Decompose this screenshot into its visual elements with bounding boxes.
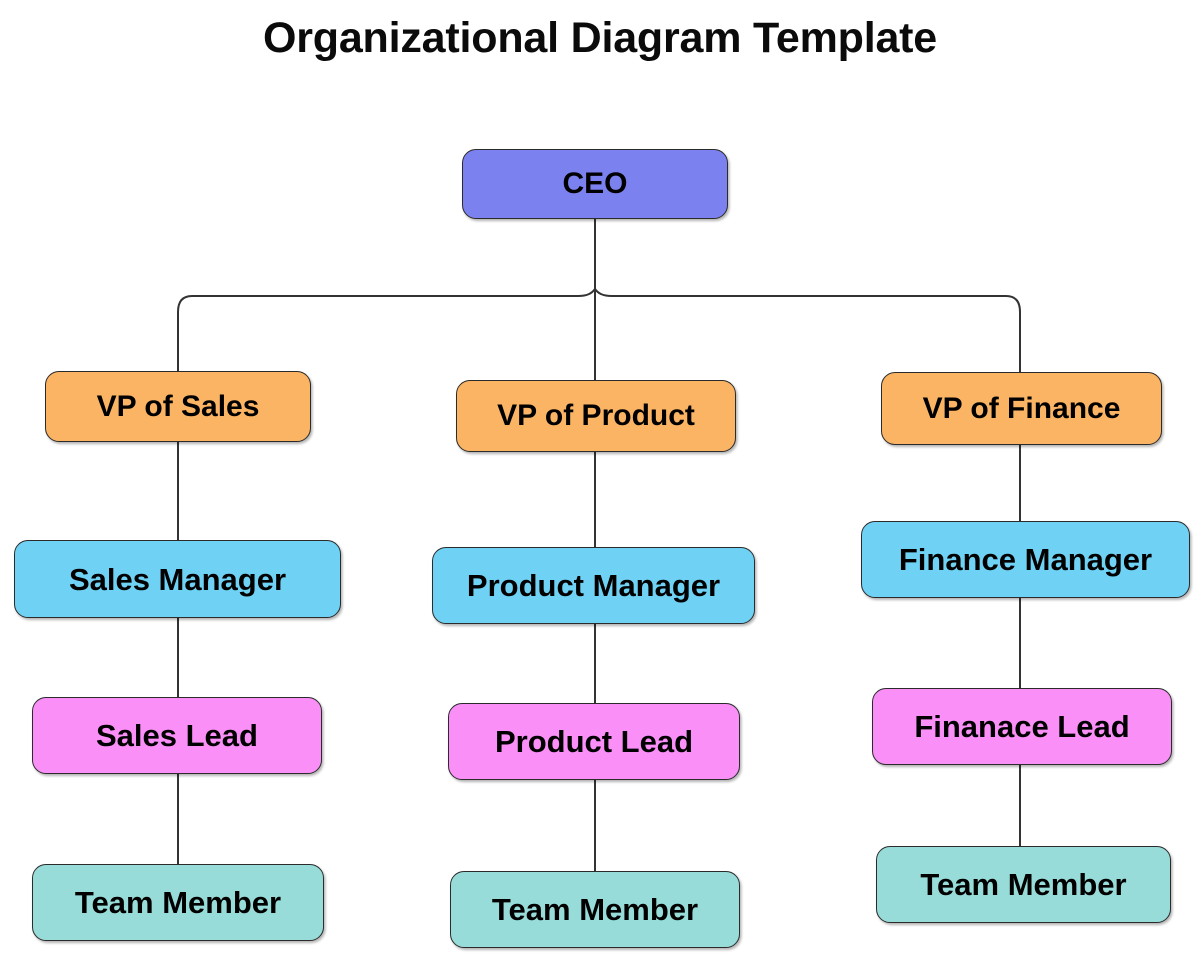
node-finance-lead-label: Finanace Lead [914,711,1129,742]
node-sales-lead[interactable]: Sales Lead [32,697,322,774]
node-sales-team-member-label: Team Member [75,887,281,918]
page-title: Organizational Diagram Template [0,14,1200,63]
node-sales-team-member[interactable]: Team Member [32,864,324,941]
node-sales-manager[interactable]: Sales Manager [14,540,341,618]
node-finance-manager-label: Finance Manager [899,544,1152,575]
node-vp-of-finance[interactable]: VP of Finance [881,372,1162,445]
node-sales-manager-label: Sales Manager [69,564,286,595]
edge-ceo-to-vp-finance [595,289,1020,372]
node-ceo-label: CEO [562,169,627,199]
node-product-manager-label: Product Manager [467,570,720,601]
node-product-team-member[interactable]: Team Member [450,871,740,948]
node-vp-of-product-label: VP of Product [497,401,695,431]
node-ceo[interactable]: CEO [462,149,728,219]
connector-layer [0,0,1200,966]
node-finance-team-member-label: Team Member [920,869,1126,900]
node-product-lead-label: Product Lead [495,726,693,757]
edge-ceo-to-vp-sales [178,289,595,371]
node-vp-of-product[interactable]: VP of Product [456,380,736,452]
node-product-manager[interactable]: Product Manager [432,547,755,624]
node-vp-of-sales[interactable]: VP of Sales [45,371,311,442]
node-product-lead[interactable]: Product Lead [448,703,740,780]
node-finance-lead[interactable]: Finanace Lead [872,688,1172,765]
node-vp-of-finance-label: VP of Finance [923,394,1121,424]
node-finance-manager[interactable]: Finance Manager [861,521,1190,598]
node-sales-lead-label: Sales Lead [96,720,258,751]
node-finance-team-member[interactable]: Team Member [876,846,1171,923]
node-vp-of-sales-label: VP of Sales [97,392,260,422]
org-chart-canvas: Organizational Diagram Template [0,0,1200,966]
node-product-team-member-label: Team Member [492,894,698,925]
